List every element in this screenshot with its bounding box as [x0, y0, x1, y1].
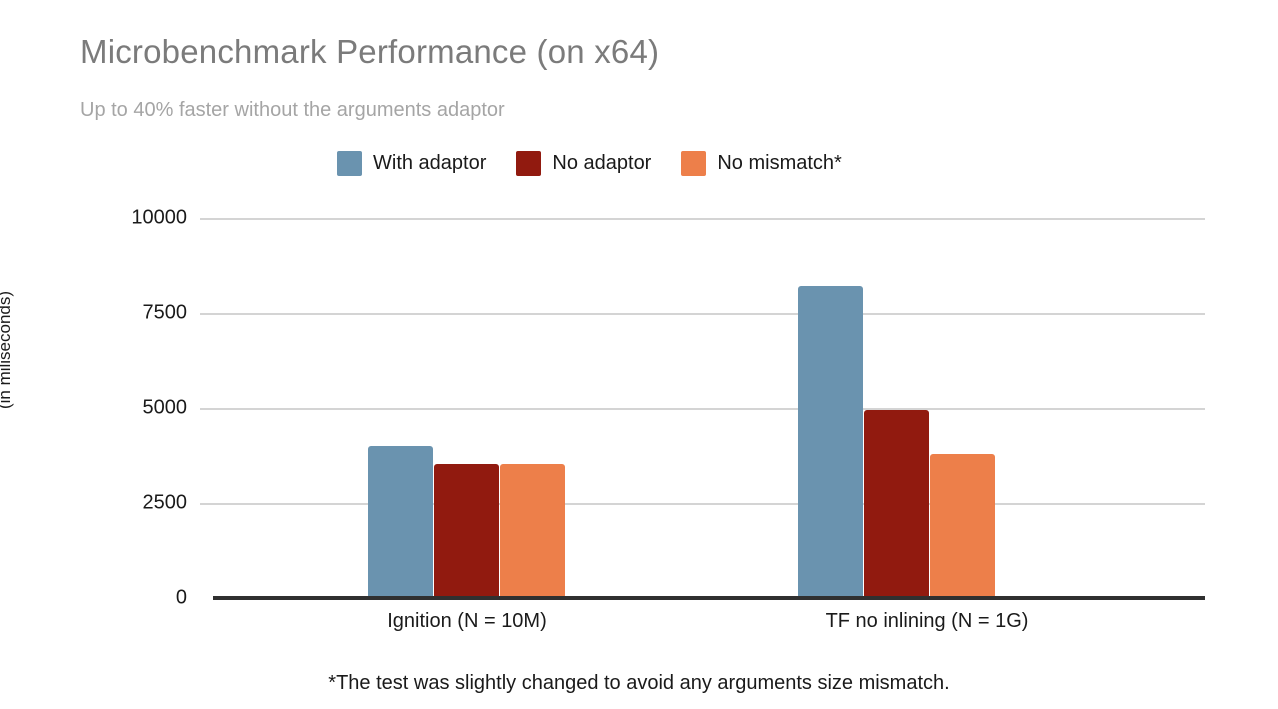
y-tick-label-7500: 7500: [143, 302, 188, 325]
legend-swatch-icon: [516, 151, 541, 176]
x-axis-line: [213, 596, 1205, 600]
chart-footnote: *The test was slightly changed to avoid …: [328, 672, 949, 695]
y-axis-title: (in miliseconds): [0, 250, 15, 450]
gridline-2500: [213, 503, 1205, 505]
legend-label: No adaptor: [552, 152, 651, 175]
legend-item-with-adaptor[interactable]: With adaptor: [337, 151, 486, 176]
bar-tf-no-inlining-no-adaptor[interactable]: [864, 410, 929, 598]
tick-stub: [200, 218, 213, 220]
legend-swatch-icon: [681, 151, 706, 176]
bar-ignition-no-adaptor[interactable]: [434, 464, 499, 598]
y-tick-label-10000: 10000: [131, 207, 187, 230]
x-tick-label-tf-no-inlining: TF no inlining (N = 1G): [826, 610, 1029, 633]
x-tick-label-ignition: Ignition (N = 10M): [387, 610, 547, 633]
bar-tf-no-inlining-no-mismatch[interactable]: [930, 454, 995, 598]
legend-label: With adaptor: [373, 152, 486, 175]
legend-item-no-mismatch[interactable]: No mismatch*: [681, 151, 841, 176]
chart-legend: With adaptor No adaptor No mismatch*: [337, 151, 842, 176]
legend-label: No mismatch*: [717, 152, 841, 175]
tick-stub: [200, 313, 213, 315]
plot-area: [213, 218, 1205, 598]
page-title: Microbenchmark Performance (on x64): [80, 33, 659, 71]
y-tick-label-2500: 2500: [143, 492, 188, 515]
legend-swatch-icon: [337, 151, 362, 176]
chart-subtitle: Up to 40% faster without the arguments a…: [80, 99, 505, 122]
legend-item-no-adaptor[interactable]: No adaptor: [516, 151, 651, 176]
gridline-10000: [213, 218, 1205, 220]
bar-tf-no-inlining-with-adaptor[interactable]: [798, 286, 863, 598]
chart-slide: Microbenchmark Performance (on x64) Up t…: [0, 0, 1278, 709]
tick-stub: [200, 408, 213, 410]
bar-ignition-with-adaptor[interactable]: [368, 446, 433, 598]
gridline-5000: [213, 408, 1205, 410]
gridline-7500: [213, 313, 1205, 315]
bar-ignition-no-mismatch[interactable]: [500, 464, 565, 598]
y-tick-label-5000: 5000: [143, 397, 188, 420]
y-tick-label-0: 0: [176, 587, 187, 610]
tick-stub: [200, 503, 213, 505]
